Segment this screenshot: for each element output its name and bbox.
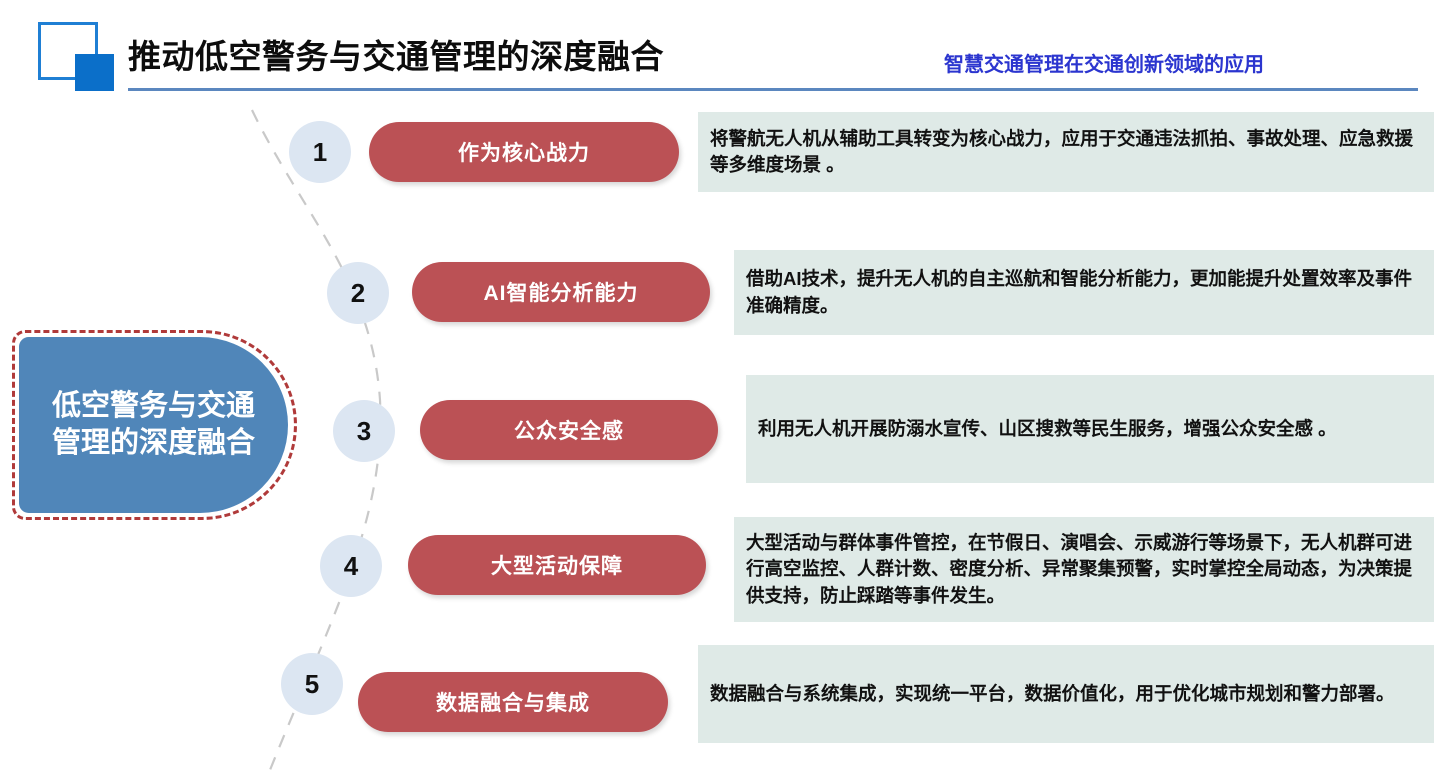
step-label-text-3: 公众安全感 bbox=[514, 415, 624, 445]
step-description-text-3: 利用无人机开展防溺水宣传、山区搜救等民生服务，增强公众安全感 。 bbox=[746, 416, 1351, 442]
focus-box[interactable]: 低空警务与交通 管理的深度融合 bbox=[19, 337, 288, 513]
step-description-text-5: 数据融合与系统集成，实现统一平台，数据价值化，用于优化城市规划和警力部署。 bbox=[698, 681, 1409, 707]
page-title: 推动低空警务与交通管理的深度融合 bbox=[128, 30, 664, 78]
page-subtitle: 智慧交通管理在交通创新领域的应用 bbox=[944, 48, 1264, 77]
step-number-2[interactable]: 2 bbox=[327, 262, 389, 324]
square-fill-icon bbox=[75, 54, 114, 91]
step-label-text-2: AI智能分析能力 bbox=[484, 277, 639, 307]
step-label-text-5: 数据融合与集成 bbox=[436, 687, 590, 717]
step-label-pill-4[interactable]: 大型活动保障 bbox=[408, 535, 706, 595]
step-label-pill-1[interactable]: 作为核心战力 bbox=[369, 122, 679, 182]
header-divider bbox=[128, 88, 1418, 91]
step-label-text-4: 大型活动保障 bbox=[491, 550, 623, 580]
step-description-text-2: 借助AI技术，提升无人机的自主巡航和智能分析能力，更加能提升处置效率及事件准确精… bbox=[734, 266, 1434, 319]
step-number-5[interactable]: 5 bbox=[281, 653, 343, 715]
step-description-box-3: 利用无人机开展防溺水宣传、山区搜救等民生服务，增强公众安全感 。 bbox=[746, 375, 1434, 483]
step-description-box-4: 大型活动与群体事件管控，在节假日、演唱会、示威游行等场景下，无人机群可进行高空监… bbox=[734, 517, 1434, 622]
step-label-text-1: 作为核心战力 bbox=[458, 137, 590, 167]
step-label-pill-5[interactable]: 数据融合与集成 bbox=[358, 672, 668, 732]
step-label-pill-2[interactable]: AI智能分析能力 bbox=[412, 262, 710, 322]
step-number-4[interactable]: 4 bbox=[320, 535, 382, 597]
step-description-text-1: 将警航无人机从辅助工具转变为核心战力，应用于交通违法抓拍、事故处理、应急救援等多… bbox=[698, 126, 1434, 179]
step-label-pill-3[interactable]: 公众安全感 bbox=[420, 400, 718, 460]
step-description-box-1: 将警航无人机从辅助工具转变为核心战力，应用于交通违法抓拍、事故处理、应急救援等多… bbox=[698, 112, 1434, 192]
step-description-box-5: 数据融合与系统集成，实现统一平台，数据价值化，用于优化城市规划和警力部署。 bbox=[698, 645, 1434, 743]
step-number-1[interactable]: 1 bbox=[289, 121, 351, 183]
slide-canvas: 推动低空警务与交通管理的深度融合 智慧交通管理在交通创新领域的应用 低空警务与交… bbox=[0, 0, 1435, 782]
step-number-3[interactable]: 3 bbox=[333, 400, 395, 462]
focus-box-label: 低空警务与交通 管理的深度融合 bbox=[39, 388, 269, 462]
step-description-text-4: 大型活动与群体事件管控，在节假日、演唱会、示威游行等场景下，无人机群可进行高空监… bbox=[734, 530, 1434, 609]
step-description-box-2: 借助AI技术，提升无人机的自主巡航和智能分析能力，更加能提升处置效率及事件准确精… bbox=[734, 250, 1434, 335]
